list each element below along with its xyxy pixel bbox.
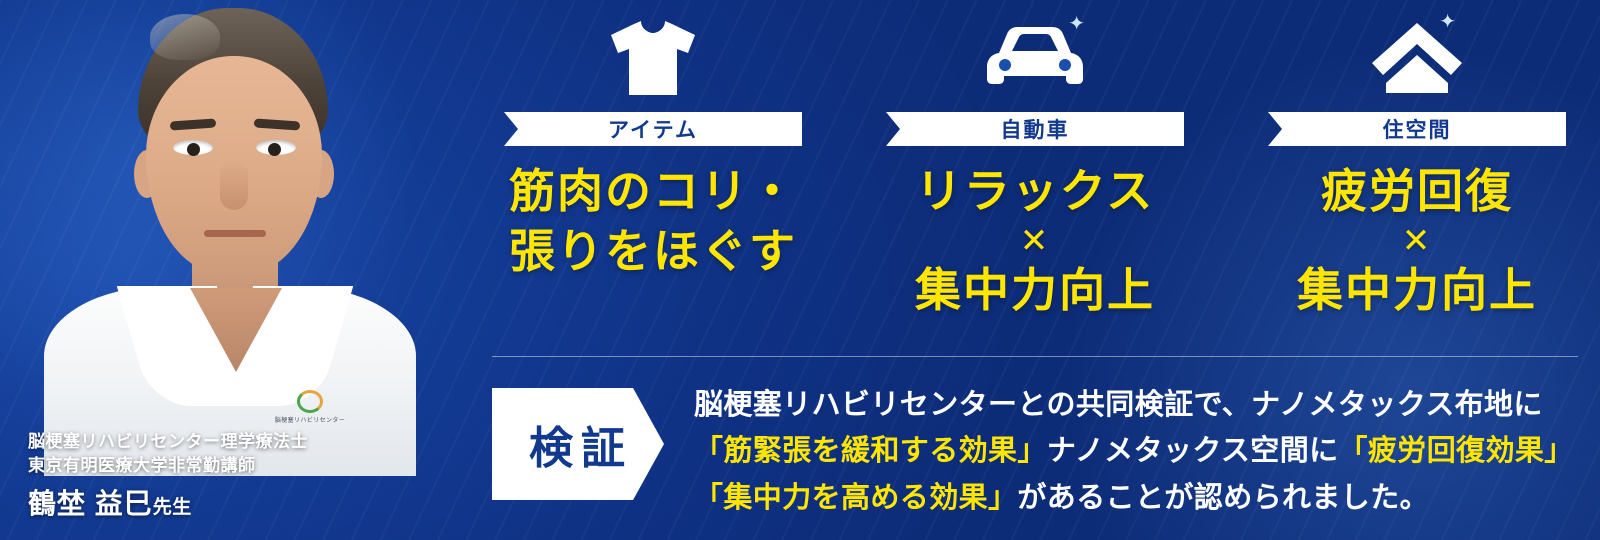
content-area: アイテム 筋肉のコリ・ 張りをほぐす ✦ 自動 — [470, 0, 1600, 540]
verification-badge: 検証 — [492, 388, 664, 500]
verification-badge-label: 検証 — [523, 412, 633, 476]
verification-highlight-1: 「筋緊張を緩和する効果」 — [694, 435, 1047, 467]
verification-line-2: 「筋緊張を緩和する効果」ナノメタックス空間に「疲労回復効果」 — [694, 428, 1574, 474]
verification-highlight-3: 「集中力を高める効果」 — [694, 482, 1017, 514]
cross-icon-living: ✕ — [1297, 224, 1537, 260]
verification-line-3-tail: があることが認められました。 — [1017, 482, 1429, 514]
sparkle-icon: ✦ — [1068, 14, 1085, 34]
caption-role-line-2: 東京有明医療大学非常勤講師 — [28, 454, 308, 479]
clinic-logo-text: 脳梗塞リハビリセンター — [275, 415, 345, 424]
headline-living: 疲労回復 ✕ 集中力向上 — [1297, 162, 1537, 321]
headline-car-line1: リラックス — [916, 166, 1155, 217]
verification-section: 検証 脳梗塞リハビリセンターとの共同検証で、ナノメタックス布地に 「筋緊張を緩和… — [492, 382, 1582, 521]
tshirt-icon — [607, 10, 699, 106]
house-icon: ✦ — [1368, 10, 1466, 106]
ribbon-label-item: アイテム — [608, 114, 698, 144]
sparkle-icon: ✦ — [1439, 12, 1456, 32]
portrait-caption: 脳梗塞リハビリセンター理学療法士 東京有明医療大学非常勤講師 鶴埜 益巳先生 — [28, 430, 308, 522]
section-divider — [492, 356, 1578, 357]
benefit-card-item: アイテム 筋肉のコリ・ 張りをほぐす — [478, 10, 828, 321]
cross-icon-car: ✕ — [915, 224, 1155, 260]
promo-banner: 脳梗塞リハビリセンター 脳梗塞リハビリセンター理学療法士 東京有明医療大学非常勤… — [0, 0, 1600, 540]
headline-living-line1: 疲労回復 — [1321, 166, 1513, 217]
pupil-right — [268, 143, 281, 156]
caption-name-honorific: 先生 — [153, 497, 192, 518]
nose — [220, 160, 248, 210]
clinic-logo-icon — [297, 390, 323, 413]
ribbon-label-living: 住空間 — [1383, 114, 1452, 144]
portrait-block: 脳梗塞リハビリセンター 脳梗塞リハビリセンター理学療法士 東京有明医療大学非常勤… — [0, 0, 470, 540]
caption-name: 鶴埜 益巳先生 — [28, 482, 308, 522]
headline-item-line2: 張りをほぐす — [509, 226, 797, 277]
headline-car-line2: 集中力向上 — [915, 265, 1155, 316]
mouth — [204, 230, 266, 237]
benefit-cards: アイテム 筋肉のコリ・ 張りをほぐす ✦ 自動 — [470, 10, 1600, 321]
verification-line-1: 脳梗塞リハビリセンターとの共同検証で、ナノメタックス布地に — [694, 382, 1574, 428]
ribbon-living: 住空間 — [1268, 112, 1566, 146]
headline-item: 筋肉のコリ・ 張りをほぐす — [509, 162, 797, 282]
headline-car: リラックス ✕ 集中力向上 — [915, 162, 1155, 321]
benefit-card-living: ✦ 住空間 疲労回復 ✕ 集中力向上 — [1242, 10, 1592, 321]
ribbon-label-car: 自動車 — [1001, 114, 1070, 144]
verification-line-2-mid: ナノメタックス空間に — [1047, 435, 1339, 467]
headline-living-line2: 集中力向上 — [1297, 265, 1537, 316]
pupil-left — [187, 143, 200, 156]
caption-name-text: 鶴埜 益巳 — [28, 488, 153, 519]
caption-role-line-1: 脳梗塞リハビリセンター理学療法士 — [28, 430, 308, 455]
ribbon-item: アイテム — [504, 112, 802, 146]
verification-highlight-2: 「疲労回復効果」 — [1339, 435, 1574, 467]
specialist-portrait-image: 脳梗塞リハビリセンター — [30, 0, 430, 470]
headline-item-line1: 筋肉のコリ・ — [509, 166, 797, 217]
ribbon-car: 自動車 — [886, 112, 1184, 146]
coat-logo: 脳梗塞リハビリセンター — [256, 390, 364, 424]
car-icon: ✦ — [979, 10, 1091, 106]
verification-text: 脳梗塞リハビリセンターとの共同検証で、ナノメタックス布地に 「筋緊張を緩和する効… — [694, 382, 1574, 521]
benefit-card-car: ✦ 自動車 リラックス ✕ 集中力向上 — [860, 10, 1210, 321]
verification-line-3: 「集中力を高める効果」があることが認められました。 — [694, 475, 1574, 521]
